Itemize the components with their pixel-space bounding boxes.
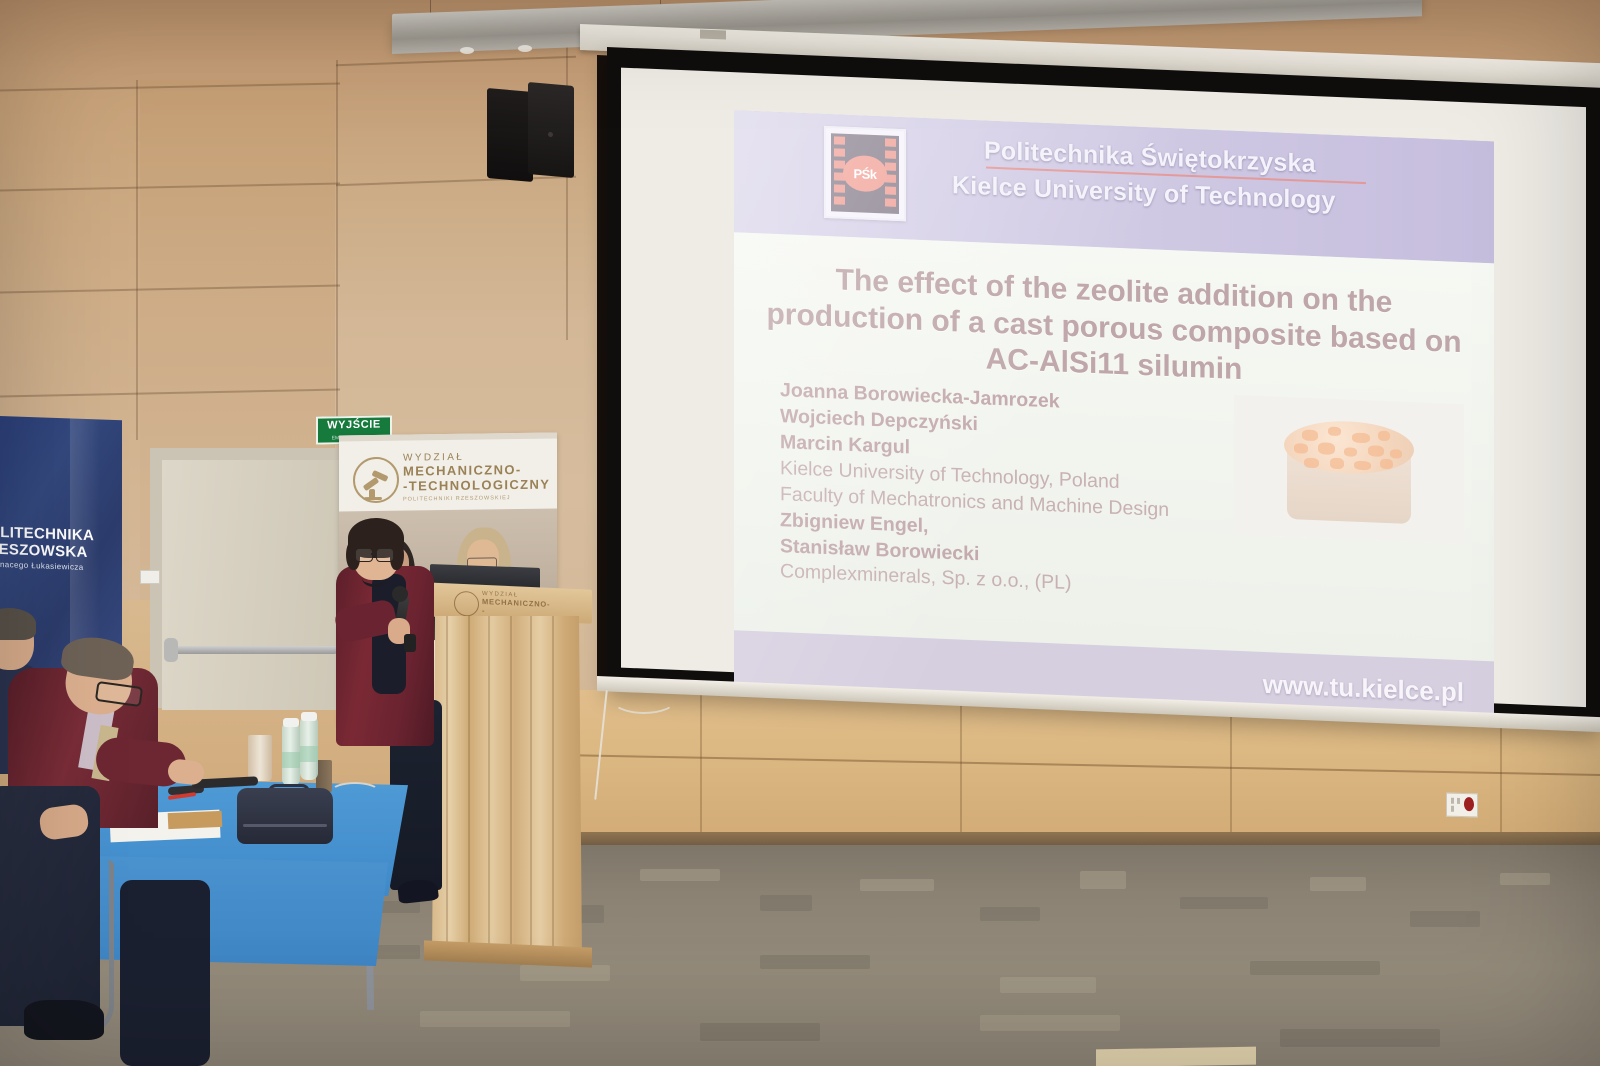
wall-speaker-left xyxy=(487,88,533,182)
projection-screen: PŚk Politechnika Świętokrzyska Kielce Un… xyxy=(607,47,1600,728)
wall-socket xyxy=(1446,793,1478,818)
door-push-bar-mount xyxy=(164,638,178,662)
slide-author-list: Joanna Borowiecka-Jamrozek Wojciech Depc… xyxy=(780,378,1210,603)
bottle-label xyxy=(282,752,300,768)
emergency-button-icon xyxy=(1464,797,1474,811)
lectern-engraved-logo: WYDZIAŁ MECHANICZNO- -TECHNOLOGICZNY POL… xyxy=(452,590,560,621)
emergency-exit-door[interactable] xyxy=(162,460,342,710)
exit-sign-label: WYJŚCIE xyxy=(327,419,381,432)
microphone-head-icon xyxy=(392,586,408,602)
presentation-clicker[interactable] xyxy=(404,634,416,652)
porous-composite-sample-photo xyxy=(1234,395,1464,544)
foreground-paper xyxy=(1096,1047,1256,1066)
robotic-arm-logo-icon xyxy=(353,457,399,504)
banner-line-3: -TECHNOLOGICZNY xyxy=(403,477,550,494)
rollup-line-2: RZESZOWSKA xyxy=(0,540,118,562)
bottle-cap xyxy=(301,712,317,721)
bag-zipper xyxy=(243,824,327,827)
presenter-glasses-left-lens xyxy=(355,548,373,562)
wooden-nameplate xyxy=(168,811,223,829)
wainscot-seam xyxy=(700,690,702,840)
slide-body: The effect of the zeolite addition on th… xyxy=(734,232,1494,661)
door-push-bar[interactable] xyxy=(168,646,338,654)
wall-speaker-right xyxy=(528,82,574,178)
presenter-shoe xyxy=(397,878,439,904)
screen-surface: PŚk Politechnika Świętokrzyska Kielce Un… xyxy=(621,68,1586,708)
presenter-glasses-right-lens xyxy=(376,548,394,562)
slide-title: The effect of the zeolite addition on th… xyxy=(754,259,1474,398)
projected-slide: PŚk Politechnika Świętokrzyska Kielce Un… xyxy=(734,110,1494,721)
wainscot-seam xyxy=(1230,700,1232,850)
lecture-hall-photo: PŚk Politechnika Świętokrzyska Kielce Un… xyxy=(0,0,1600,1066)
wall-seam xyxy=(136,80,138,440)
projector-cable-loop xyxy=(612,686,676,714)
bottle-label xyxy=(300,746,318,762)
lectern-body xyxy=(432,616,582,956)
shoulder-bag xyxy=(237,788,333,844)
slide-footer-url: www.tu.kielce.pl xyxy=(1263,669,1464,708)
screen-housing-clip xyxy=(700,30,726,40)
psk-logo: PŚk xyxy=(824,126,906,221)
wainscot-seam xyxy=(960,695,962,845)
coiled-cable xyxy=(330,782,380,802)
presenter-glasses-bridge xyxy=(371,553,376,555)
wall-seam xyxy=(336,60,338,440)
drinking-glass xyxy=(248,735,272,781)
attendee-foreground-shoe xyxy=(24,1000,104,1040)
banner-line-4: POLITECHNIKI RZESZOWSKIEJ xyxy=(403,495,550,503)
attendee-foreground-leg xyxy=(120,880,210,1066)
bottle-cap xyxy=(283,718,299,727)
light-switch[interactable] xyxy=(140,570,160,584)
psk-logo-text: PŚk xyxy=(853,166,876,182)
